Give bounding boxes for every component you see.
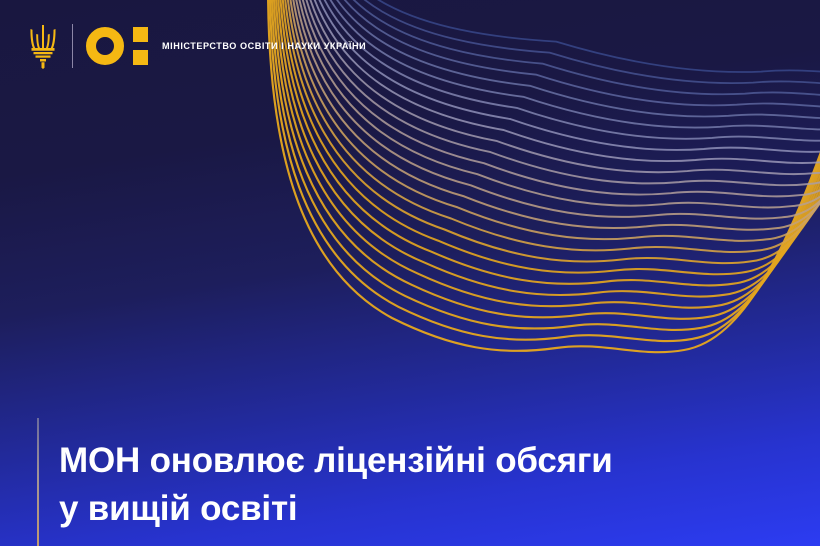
wave-line — [295, 0, 820, 185]
wave-line — [301, 0, 820, 152]
wave-line — [304, 0, 820, 130]
logo-divider — [72, 24, 73, 68]
logo-mark — [86, 27, 148, 65]
ukrainian-trident-emblem-icon — [28, 23, 58, 69]
wave-line — [297, 0, 820, 174]
banner-canvas: МІНІСТЕРСТВО ОСВІТИ І НАУКИ УКРАЇНИ МОН … — [0, 0, 820, 546]
wave-line — [308, 0, 820, 107]
wave-line — [302, 0, 820, 141]
wave-line — [306, 0, 820, 118]
headline-block: МОН оновлює ліцензійні обсяги у вищій ос… — [37, 414, 613, 546]
wave-line — [311, 0, 820, 85]
vertical-accent-bar — [37, 418, 39, 546]
logo-colon-squares-icon — [133, 27, 148, 65]
page-title: МОН оновлює ліцензійні обсяги у вищій ос… — [59, 437, 613, 533]
logo-ring-o-icon — [86, 27, 124, 65]
wave-line — [292, 0, 820, 207]
ministry-wordmark: МІНІСТЕРСТВО ОСВІТИ І НАУКИ УКРАЇНИ — [162, 40, 366, 52]
wave-line — [293, 0, 820, 196]
wave-line — [299, 0, 820, 163]
wave-line — [313, 0, 820, 74]
wave-line — [290, 0, 820, 219]
wave-line — [310, 0, 820, 96]
wave-line — [288, 0, 820, 230]
ministry-logo-lockup[interactable]: МІНІСТЕРСТВО ОСВІТИ І НАУКИ УКРАЇНИ — [28, 19, 366, 73]
